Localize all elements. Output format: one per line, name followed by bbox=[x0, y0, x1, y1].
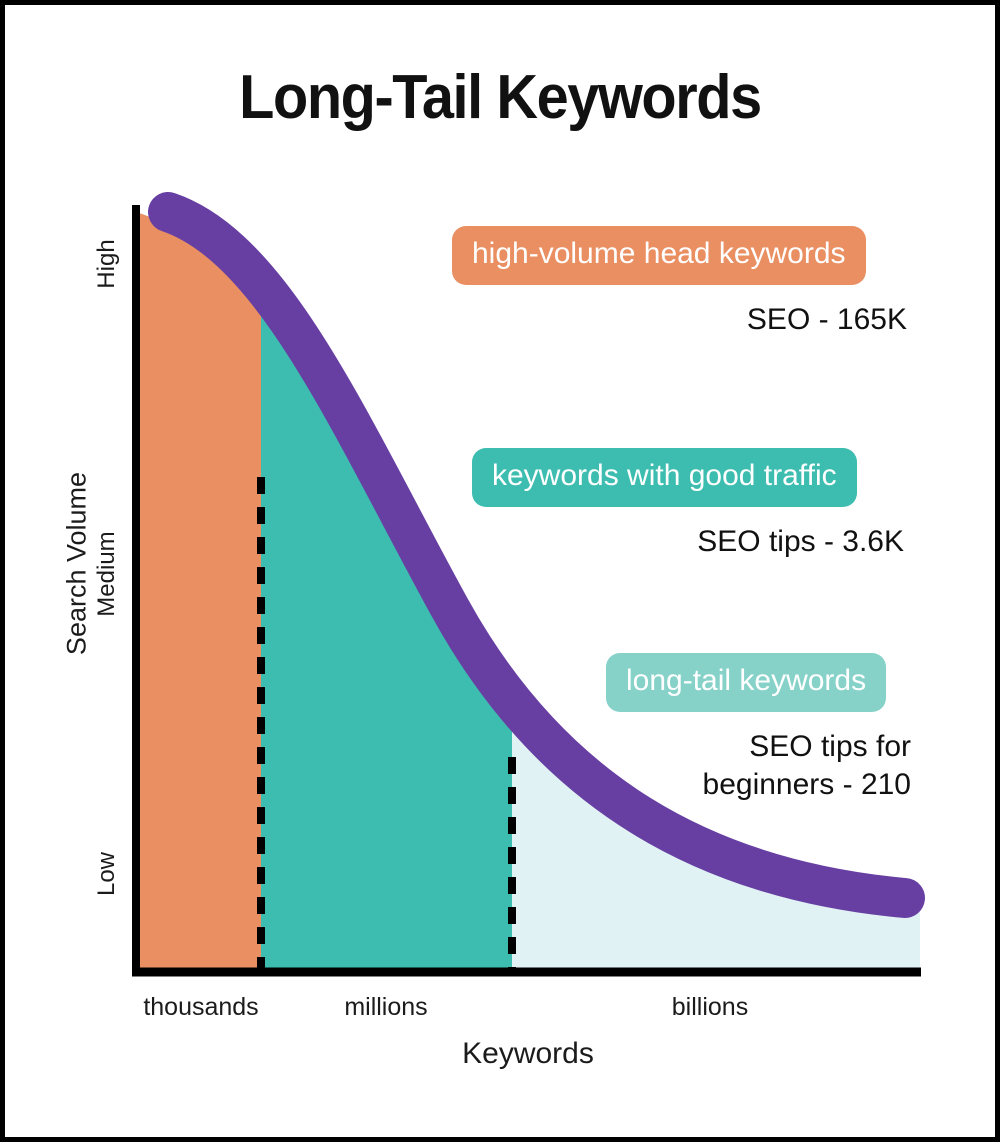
x-axis-title: Keywords bbox=[133, 1037, 923, 1071]
y-tick-high: High bbox=[93, 204, 121, 324]
callout-head-keywords: high-volume head keywords SEO - 165K bbox=[452, 226, 907, 339]
callout-long-tail-example: SEO tips for beginners - 210 bbox=[606, 728, 911, 805]
callout-head-pill: high-volume head keywords bbox=[452, 226, 866, 285]
infographic-root: Long-Tail Keywords bbox=[0, 0, 1000, 1142]
chart-plot bbox=[0, 0, 1000, 1142]
x-tick-billions: billions bbox=[650, 993, 770, 1022]
x-tick-millions: millions bbox=[326, 993, 446, 1022]
y-axis-title: Search Volume bbox=[62, 444, 93, 684]
callout-good-traffic: keywords with good traffic SEO tips - 3.… bbox=[472, 448, 904, 561]
callout-good-traffic-example: SEO tips - 3.6K bbox=[472, 523, 904, 561]
callout-head-example: SEO - 165K bbox=[452, 301, 907, 339]
callout-long-tail-pill: long-tail keywords bbox=[606, 653, 886, 712]
callout-long-tail: long-tail keywords SEO tips for beginner… bbox=[606, 653, 911, 805]
y-tick-medium: Medium bbox=[93, 514, 121, 634]
callout-good-traffic-pill: keywords with good traffic bbox=[472, 448, 857, 507]
y-tick-low: Low bbox=[93, 814, 121, 934]
x-tick-thousands: thousands bbox=[141, 993, 261, 1022]
